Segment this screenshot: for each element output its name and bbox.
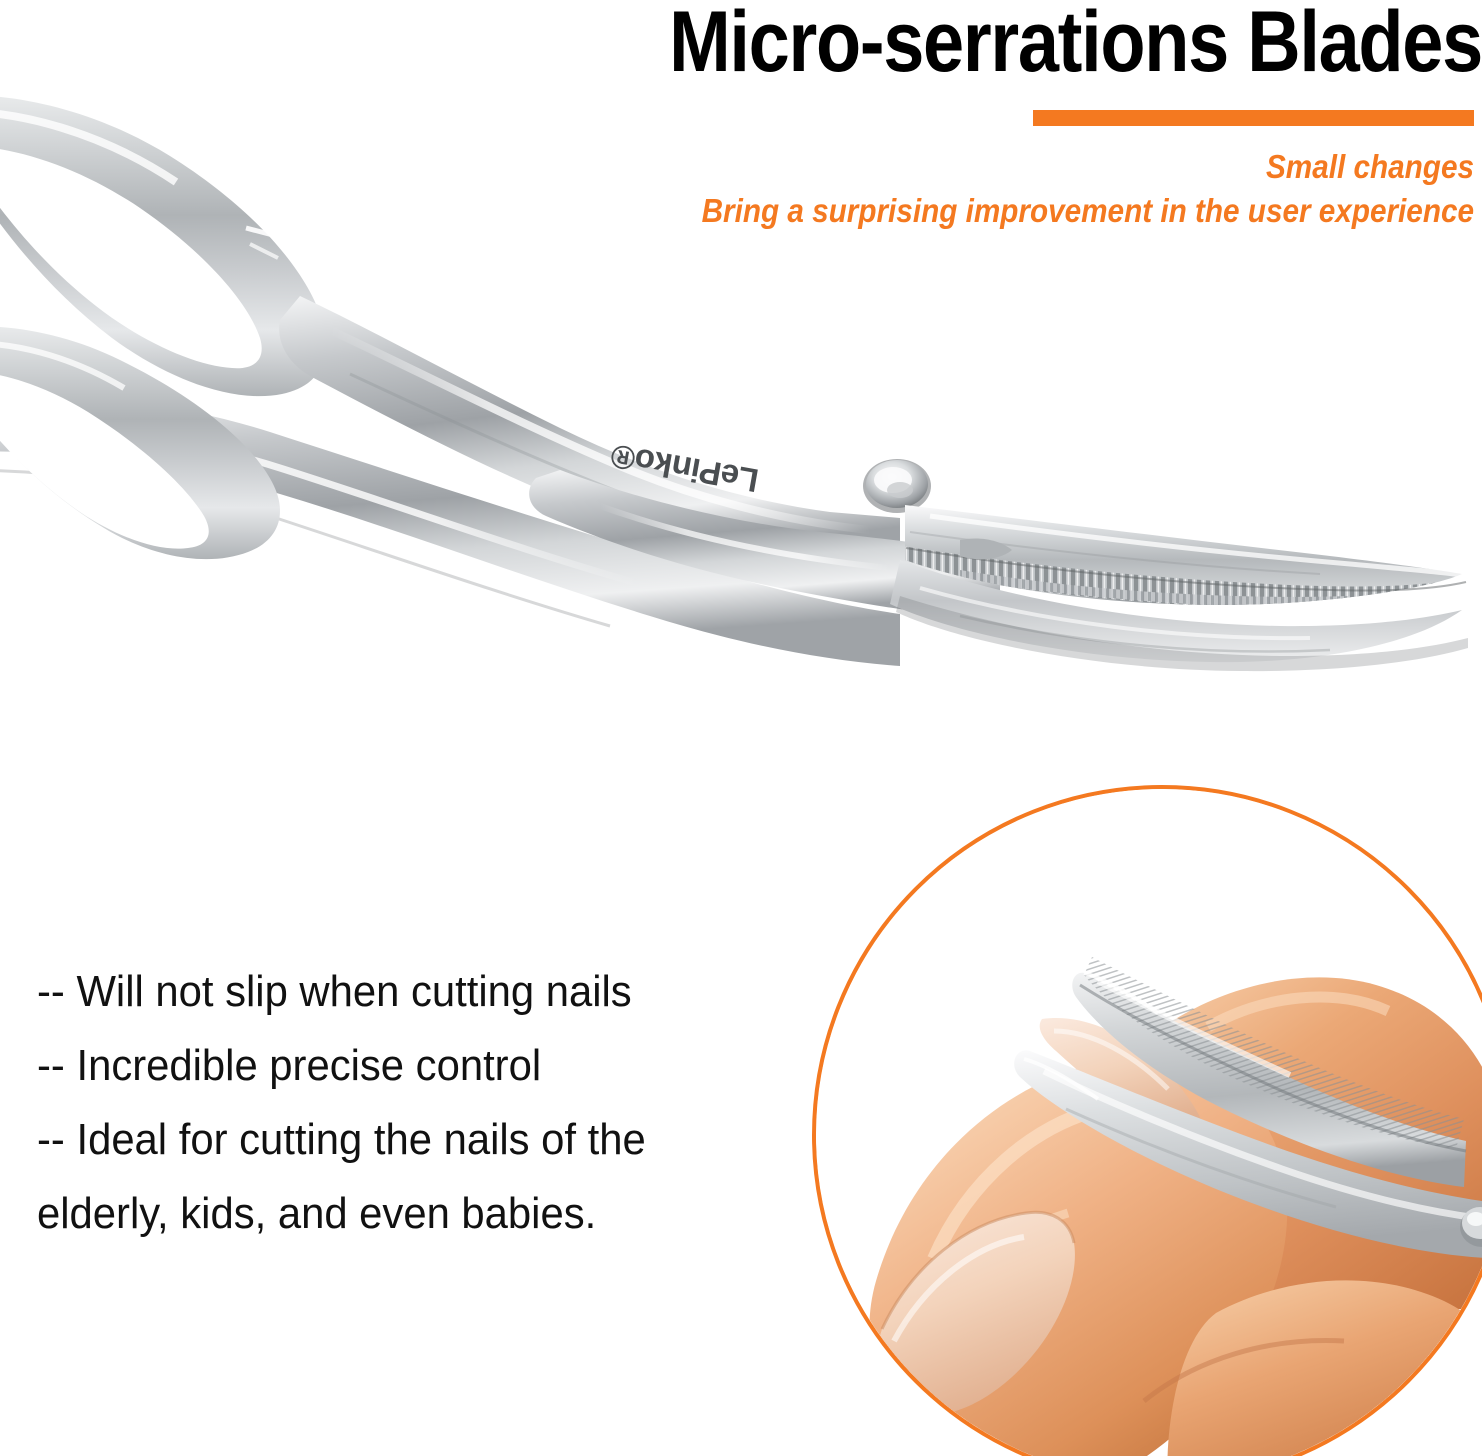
product-marketing-banner: LePinko® — [0, 0, 1482, 1456]
list-item: -- Will not slip when cutting nails — [37, 955, 759, 1029]
subtitle-line-2: Bring a surprising improvement in the us… — [484, 192, 1474, 230]
inset-photo-circle — [812, 785, 1482, 1456]
nail-cutting-photo — [816, 789, 1482, 1456]
list-item: -- Ideal for cutting the nails of the el… — [37, 1103, 759, 1251]
list-item: -- Incredible precise control — [37, 1029, 759, 1103]
subtitle-line-1: Small changes — [664, 148, 1474, 186]
accent-bar — [1033, 110, 1474, 126]
inset-photo-clip — [816, 789, 1482, 1456]
page-title: Micro-serrations Blades — [612, 0, 1482, 90]
feature-bullet-list: -- Will not slip when cutting nails -- I… — [37, 955, 759, 1251]
